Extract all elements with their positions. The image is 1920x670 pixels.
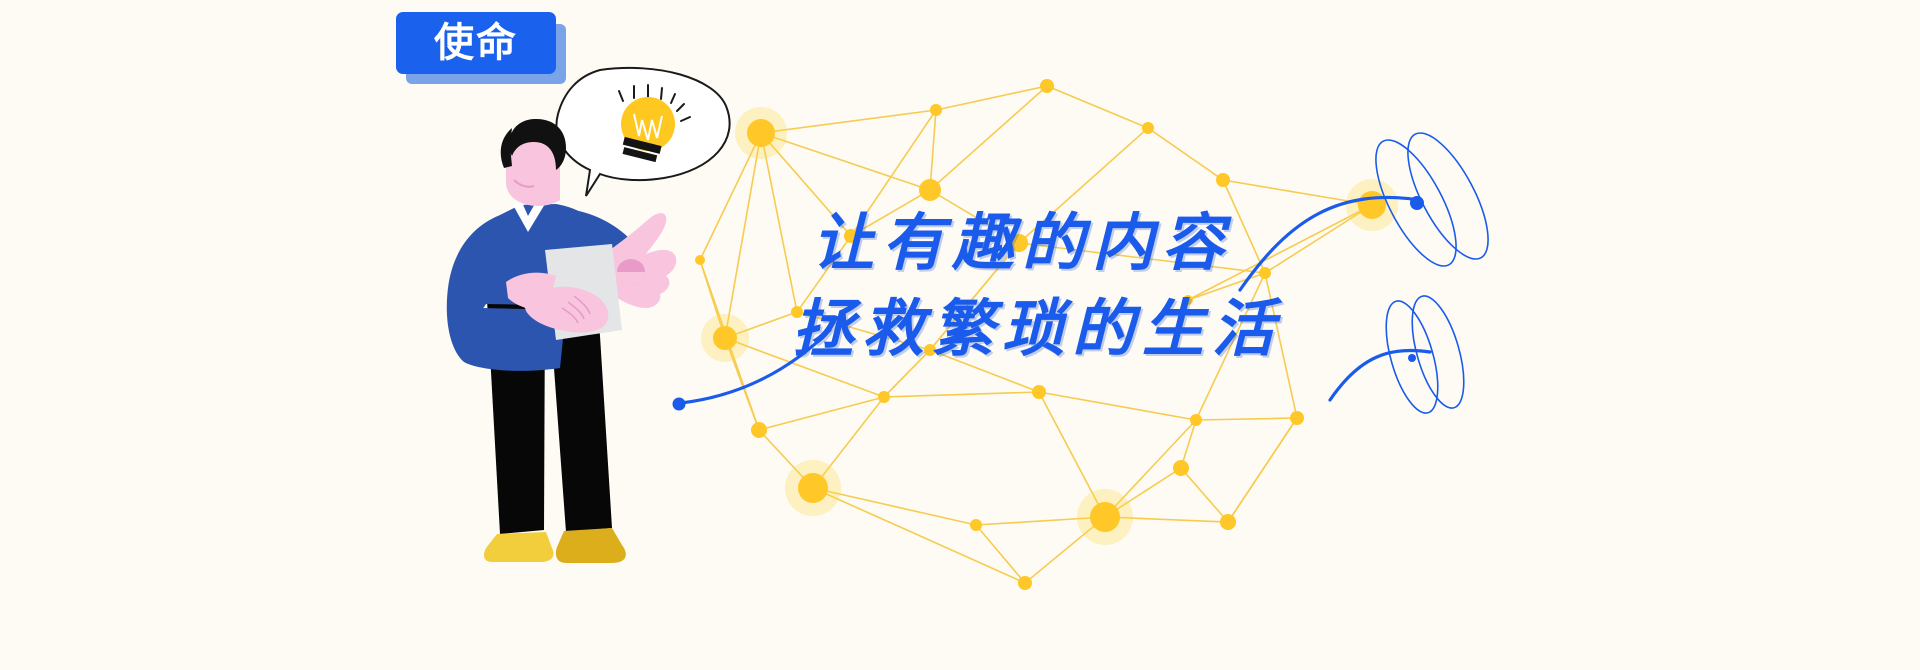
person-head — [501, 119, 566, 206]
headline-line-2: 拯救繁琐的生活 — [792, 286, 1552, 372]
badge-label: 使命 — [434, 23, 518, 63]
mission-banner: 使命 让有趣的内容 拯救繁琐的生活 — [0, 0, 1920, 670]
headline-line-1: 让有趣的内容 — [812, 200, 1552, 286]
badge-face: 使命 — [396, 12, 556, 74]
mission-badge: 使命 — [396, 12, 566, 84]
headline: 让有趣的内容 拯救繁琐的生活 — [812, 200, 1552, 372]
